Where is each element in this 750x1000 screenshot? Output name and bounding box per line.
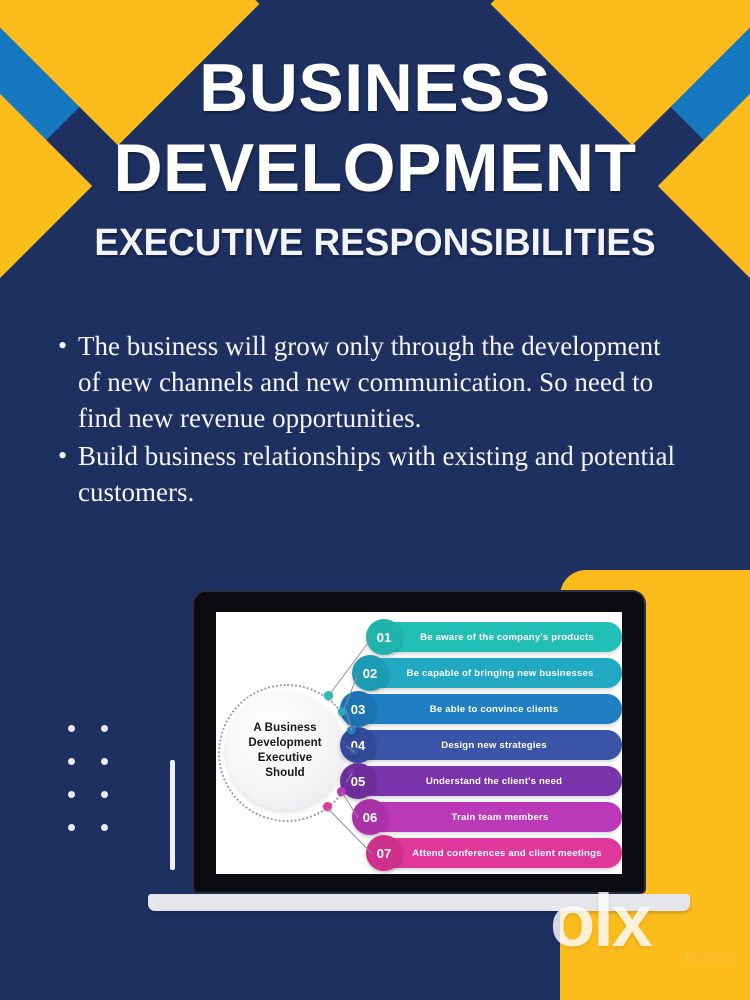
watermark-text: olx: [550, 882, 740, 960]
grid-dot-icon: [68, 725, 75, 732]
infographic-row-label: Be capable of bringing new businesses: [356, 668, 622, 679]
bullet-marker-icon: •: [58, 328, 78, 364]
bullet-marker-icon: •: [58, 438, 78, 474]
grid-dot-icon: [68, 824, 75, 831]
hub-line-3: Executive: [258, 751, 313, 766]
grid-dot-icon: [101, 725, 108, 732]
infographic-row-label: Attend conferences and client meetings: [370, 848, 622, 859]
watermark: olx 12.5.1.1: [550, 882, 740, 960]
hub-label: A Business Development Executive Should: [226, 692, 344, 810]
grid-dot-icon: [101, 824, 108, 831]
list-item: • The business will grow only through th…: [58, 328, 678, 436]
infographic-row-label: Design new strategies: [344, 740, 622, 751]
grid-dot-icon: [101, 791, 108, 798]
infographic-row-label: Be able to convince clients: [344, 704, 622, 715]
infographic-row[interactable]: 07Attend conferences and client meetings: [370, 838, 622, 868]
page-title: BUSINESS DEVELOPMENT EXECUTIVE RESPONSIB…: [0, 48, 750, 266]
hub-line-4: Should: [265, 766, 305, 781]
hub-line-2: Development: [248, 736, 321, 751]
laptop-lid: A Business Development Executive Should …: [194, 592, 644, 892]
infographic-row[interactable]: 04Design new strategies: [344, 730, 622, 760]
poster-canvas: BUSINESS DEVELOPMENT EXECUTIVE RESPONSIB…: [0, 0, 750, 1000]
decorative-dot-grid: [68, 725, 124, 857]
grid-dot-icon: [101, 758, 108, 765]
list-item: • Build business relationships with exis…: [58, 438, 678, 510]
laptop-mockup: A Business Development Executive Should …: [190, 592, 648, 912]
list-item-text: The business will grow only through the …: [78, 328, 678, 436]
laptop-screen: A Business Development Executive Should …: [216, 612, 622, 874]
watermark-subtext: 12.5.1.1: [684, 952, 732, 964]
title-line-2: DEVELOPMENT: [0, 128, 750, 208]
infographic-rows: 01Be aware of the company's products02Be…: [342, 618, 622, 870]
grid-dot-icon: [68, 791, 75, 798]
infographic: A Business Development Executive Should …: [216, 612, 622, 874]
hub-line-1: A Business: [253, 721, 316, 736]
list-item-text: Build business relationships with existi…: [78, 438, 678, 510]
infographic-row[interactable]: 03Be able to convince clients: [344, 694, 622, 724]
infographic-row[interactable]: 01Be aware of the company's products: [370, 622, 622, 652]
decorative-vertical-bar: [170, 760, 175, 870]
infographic-row[interactable]: 05Understand the client's need: [344, 766, 622, 796]
infographic-row-label: Understand the client's need: [344, 776, 622, 787]
page-subtitle: EXECUTIVE RESPONSIBILITIES: [11, 220, 739, 266]
infographic-row-label: Be aware of the company's products: [370, 632, 622, 643]
infographic-row[interactable]: 06Train team members: [356, 802, 622, 832]
responsibility-list: • The business will grow only through th…: [58, 328, 678, 512]
infographic-row-label: Train team members: [356, 812, 622, 823]
title-line-1: BUSINESS: [0, 48, 750, 128]
infographic-row[interactable]: 02Be capable of bringing new businesses: [356, 658, 622, 688]
grid-dot-icon: [68, 758, 75, 765]
